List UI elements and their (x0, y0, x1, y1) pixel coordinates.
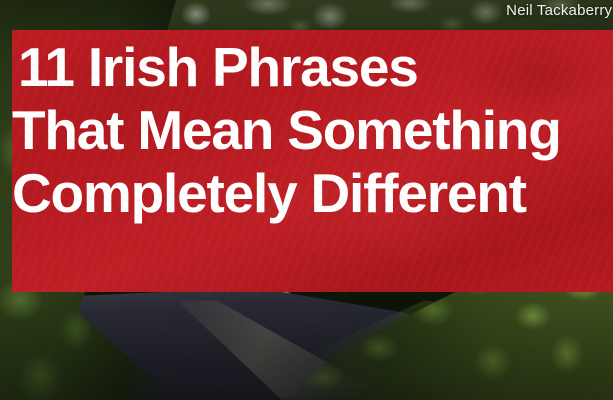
article-hero-image: Neil Tackaberry f 11 Irish Phrases That … (0, 0, 613, 400)
headline-line-1: 11 Irish Phrases (18, 36, 613, 99)
headline-line-3: Completely Different (12, 162, 613, 225)
photographer-credit: Neil Tackaberry f (506, 2, 613, 19)
headline: 11 Irish Phrases That Mean Something Com… (18, 36, 613, 225)
headline-banner: 11 Irish Phrases That Mean Something Com… (12, 30, 613, 292)
headline-line-2: That Mean Something (12, 99, 613, 162)
